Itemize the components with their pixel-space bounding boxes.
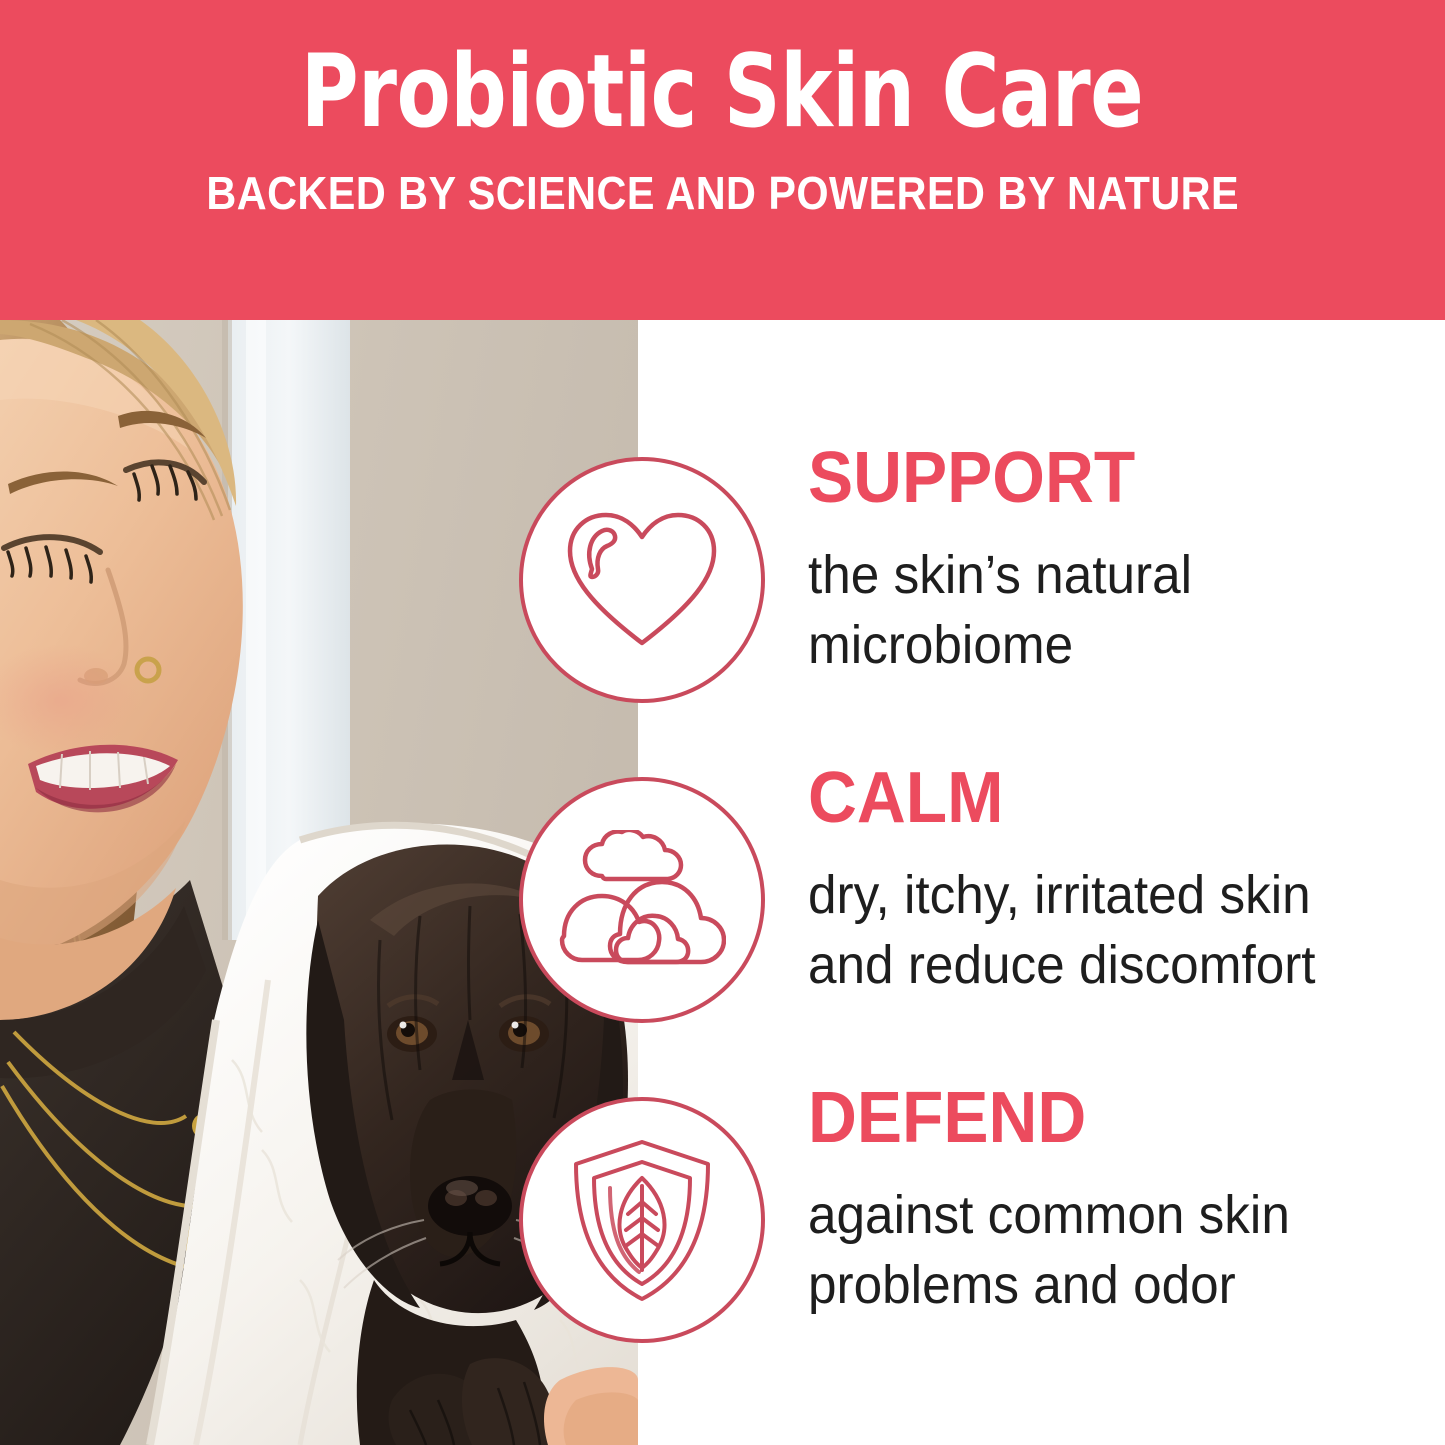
page-title: Probiotic Skin Care [301, 38, 1144, 144]
feature-list: SUPPORT the skin’s natural microbiome [0, 320, 1445, 1445]
feature-body-line: problems and odor [808, 1250, 1388, 1320]
feature-text-support: SUPPORT the skin’s natural microbiome [808, 442, 1418, 680]
feature-body-line: against common skin [808, 1180, 1388, 1250]
feature-row-defend: DEFEND against common skin problems and … [0, 1072, 1445, 1372]
feature-text-calm: CALM dry, itchy, irritated skin and redu… [808, 762, 1418, 1000]
page-subtitle: BACKED BY SCIENCE AND POWERED BY NATURE [206, 166, 1239, 220]
feature-body-defend: against common skin problems and odor [808, 1180, 1388, 1320]
feature-heading-calm: CALM [808, 762, 1381, 834]
feature-body-line: the skin’s natural [808, 540, 1388, 610]
feature-text-defend: DEFEND against common skin problems and … [808, 1082, 1418, 1320]
feature-row-support: SUPPORT the skin’s natural microbiome [0, 432, 1445, 732]
feature-heading-defend: DEFEND [808, 1082, 1381, 1154]
feature-body-calm: dry, itchy, irritated skin and reduce di… [808, 860, 1388, 1000]
shield-leaf-icon [519, 1097, 765, 1343]
feature-body-support: the skin’s natural microbiome [808, 540, 1388, 680]
clouds-icon [519, 777, 765, 1023]
feature-row-calm: CALM dry, itchy, irritated skin and redu… [0, 752, 1445, 1052]
feature-body-line: and reduce discomfort [808, 930, 1388, 1000]
feature-body-line: dry, itchy, irritated skin [808, 860, 1388, 930]
header-banner: Probiotic Skin Care BACKED BY SCIENCE AN… [0, 0, 1445, 320]
feature-heading-support: SUPPORT [808, 442, 1381, 514]
feature-body-line: microbiome [808, 610, 1388, 680]
heart-icon [519, 457, 765, 703]
infographic-page: Probiotic Skin Care BACKED BY SCIENCE AN… [0, 0, 1445, 1445]
